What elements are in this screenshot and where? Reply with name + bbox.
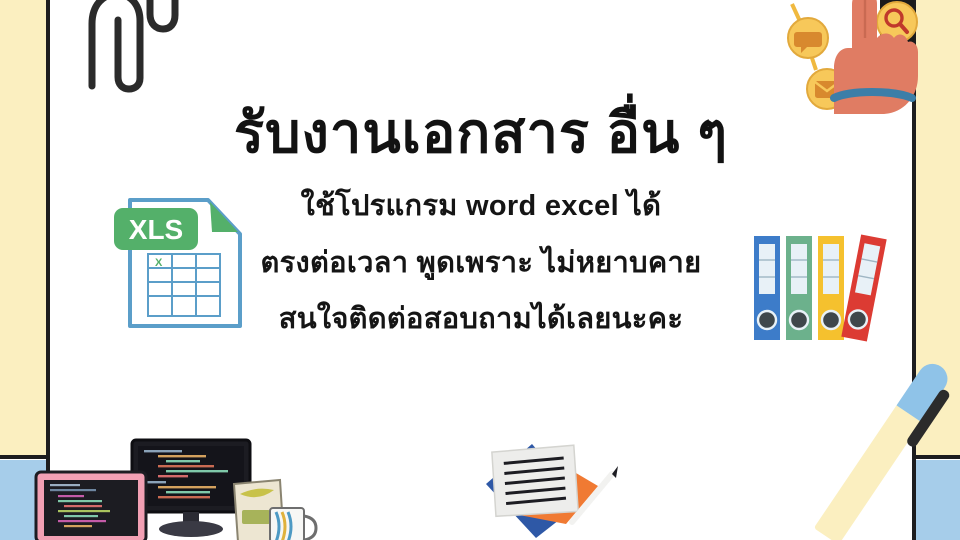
paper-clip-icon-small: [150, 0, 175, 29]
laptop-icon: [36, 472, 146, 540]
paper-clip-group: [62, 0, 182, 90]
speech-bubble-icon: [788, 18, 828, 58]
pen-icon: [818, 345, 958, 540]
page-title: รับงานเอกสาร อื่น ๆ: [234, 104, 728, 163]
paper-clip-icon: [92, 0, 140, 89]
body-copy-block: ใช้โปรแกรม word excel ได้ ตรงต่อเวลา พูด…: [261, 189, 702, 337]
ring-binder-red: [841, 234, 886, 341]
ring-binder-blue: [754, 236, 780, 340]
mug-icon: [270, 508, 316, 540]
body-line-3: สนใจติดต่อสอบถามได้เลยนะคะ: [279, 302, 683, 337]
xls-cell-mark: X: [155, 257, 163, 269]
poster-canvas: X XLS: [0, 0, 960, 540]
ring-binder-green: [786, 236, 812, 340]
ring-binder-yellow: [818, 236, 844, 340]
pen-body: [814, 404, 923, 540]
developer-desk-illustration: [18, 430, 318, 540]
hand-pointing-phone-illustration: [782, 0, 932, 114]
frame-band-left-cream: [0, 0, 46, 456]
document-front-page: [486, 439, 584, 524]
xls-badge: XLS: [114, 208, 198, 250]
ring-binder-group: [752, 228, 888, 344]
body-line-2: ตรงต่อเวลา พูดเพราะ ไม่หยาบคาย: [261, 246, 702, 281]
xls-badge-label: XLS: [129, 214, 183, 245]
xls-file-icon: X XLS: [112, 180, 254, 332]
body-line-1: ใช้โปรแกรม word excel ได้: [301, 189, 662, 224]
document-stack-icon: [462, 438, 634, 540]
monitor-icon: [132, 440, 250, 537]
